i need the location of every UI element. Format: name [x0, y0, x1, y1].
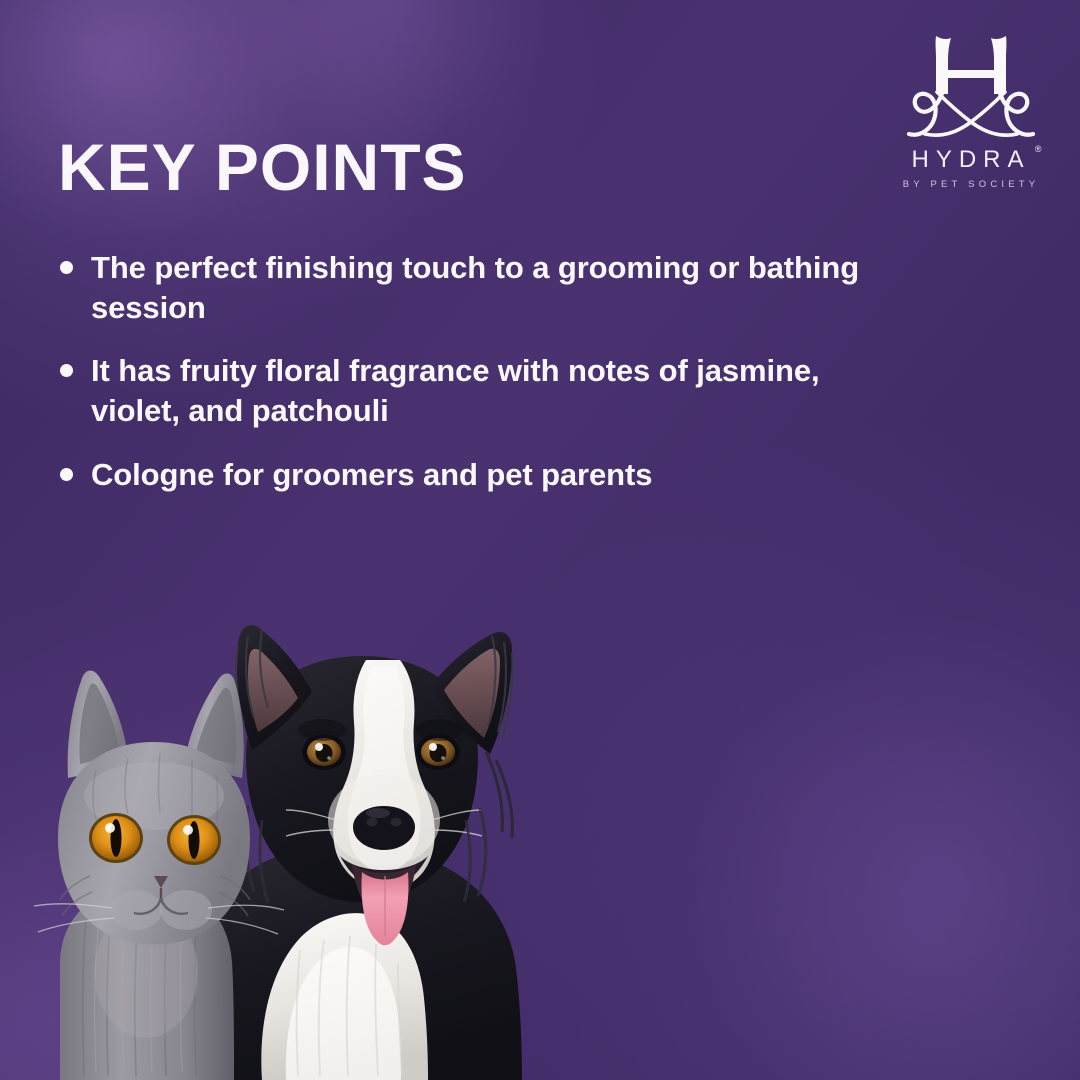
logo-tagline: BY PET SOCIETY	[896, 179, 1046, 190]
registered-trademark-icon: ®	[1035, 144, 1042, 154]
logo-wordmark: HYDRA®	[911, 146, 1030, 174]
background-glow-bottom-right	[660, 620, 1080, 1080]
key-points-list: The perfect finishing touch to a groomin…	[60, 248, 890, 518]
page-title: KEY POINTS	[58, 134, 467, 200]
hydra-h-monogram-icon	[896, 24, 1046, 144]
list-item: The perfect finishing touch to a groomin…	[60, 248, 890, 327]
hydra-logo: HYDRA® BY PET SOCIETY	[896, 24, 1046, 190]
list-item-label: The perfect finishing touch to a groomin…	[91, 248, 890, 327]
bullet-dot-icon	[60, 261, 73, 274]
bullet-dot-icon	[60, 468, 73, 481]
list-item: It has fruity floral fragrance with note…	[60, 351, 890, 430]
list-item-label: Cologne for groomers and pet parents	[91, 455, 652, 495]
list-item: Cologne for groomers and pet parents	[60, 455, 890, 495]
poster-canvas: HYDRA® BY PET SOCIETY KEY POINTS The per…	[0, 0, 1080, 1080]
bullet-dot-icon	[60, 364, 73, 377]
background-glow-top-left	[0, 0, 330, 240]
background-glow-top-mid	[230, 0, 560, 150]
list-item-label: It has fruity floral fragrance with note…	[91, 351, 890, 430]
cat-right-eye	[167, 815, 221, 865]
cat-left-eye	[89, 813, 143, 863]
cat-and-dog-photo	[0, 520, 660, 1080]
